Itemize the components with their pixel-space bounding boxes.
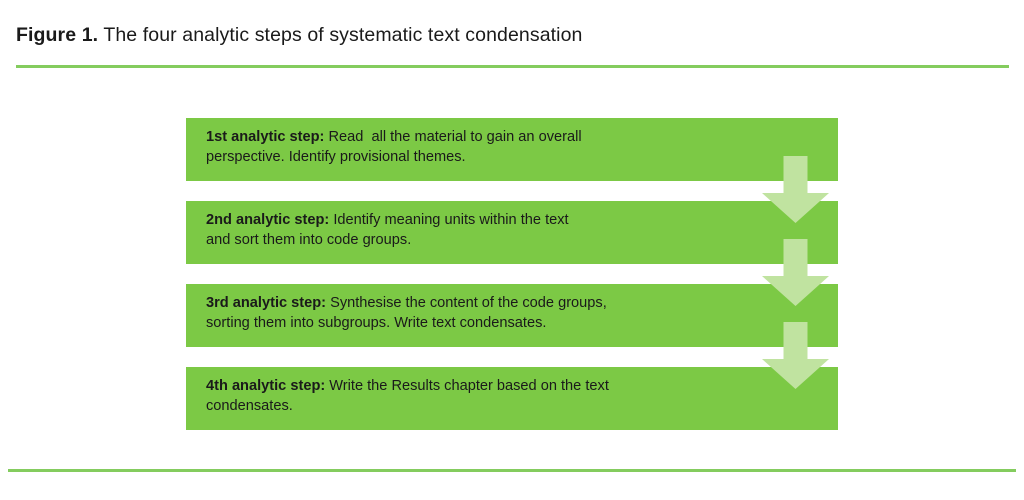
step-box-1-content: 1st analytic step: Read all the material… — [206, 127, 824, 167]
step-box-4-content: 4th analytic step: Write the Results cha… — [206, 376, 824, 416]
step-box-4: 4th analytic step: Write the Results cha… — [186, 367, 838, 430]
step-box-1-label: 1st analytic step: — [206, 129, 324, 145]
flowchart-diagram: 1st analytic step: Read all the material… — [0, 0, 1024, 500]
step-box-4-label: 4th analytic step: — [206, 378, 325, 394]
step-box-2-label: 2nd analytic step: — [206, 212, 329, 228]
down-arrow-icon-2 — [762, 239, 829, 306]
step-box-3-label: 3rd analytic step: — [206, 295, 326, 311]
figure-divider-bottom — [8, 469, 1016, 472]
step-box-2: 2nd analytic step: Identify meaning unit… — [186, 201, 838, 264]
step-box-1: 1st analytic step: Read all the material… — [186, 118, 838, 181]
down-arrow-icon-1 — [762, 156, 829, 223]
step-box-3: 3rd analytic step: Synthesise the conten… — [186, 284, 838, 347]
step-box-2-content: 2nd analytic step: Identify meaning unit… — [206, 210, 824, 250]
down-arrow-icon-3 — [762, 322, 829, 389]
figure-container: Figure 1. The four analytic steps of sys… — [0, 0, 1024, 500]
step-box-3-content: 3rd analytic step: Synthesise the conten… — [206, 293, 824, 333]
